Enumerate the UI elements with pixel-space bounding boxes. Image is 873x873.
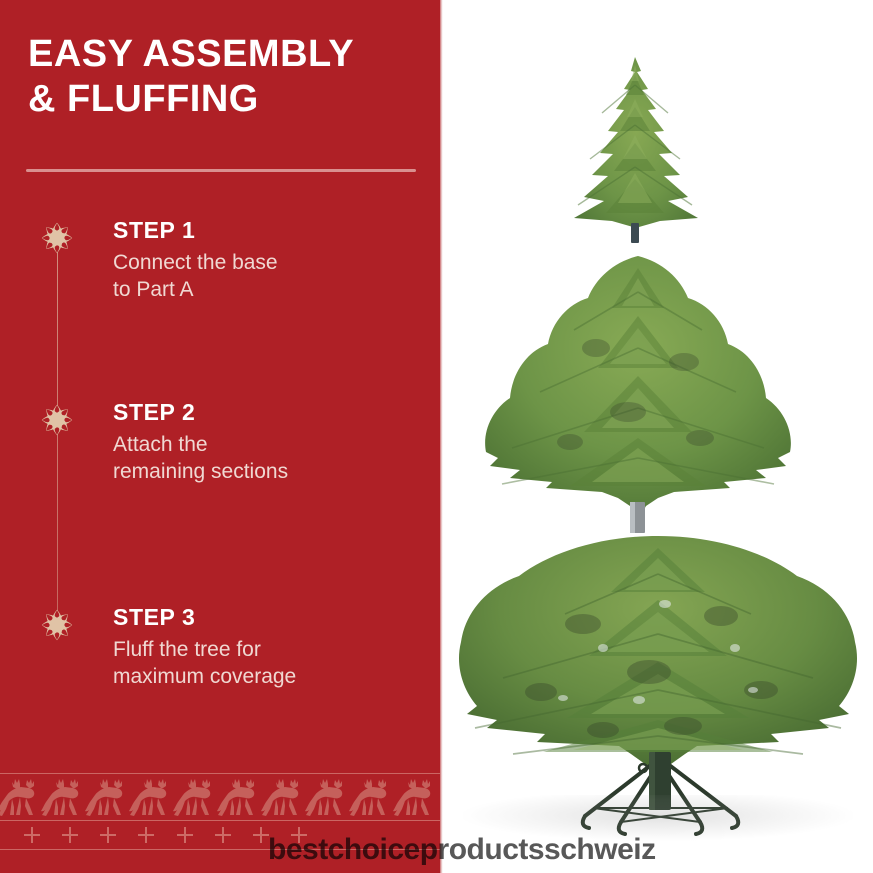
product-photo: [443, 0, 873, 873]
reindeer-icon: [392, 777, 438, 819]
tree-section-middle: [478, 252, 798, 537]
step-title: STEP 1: [113, 216, 413, 245]
plus-mark-icon: [24, 827, 40, 843]
tree-section-bottom: [453, 530, 863, 780]
step-desc-line: Fluff the tree for: [113, 636, 413, 664]
reindeer-icon: [128, 777, 174, 819]
border-rule: [0, 820, 440, 821]
reindeer-icon: [40, 777, 86, 819]
snowflake-icon: [38, 606, 76, 644]
reindeer-row: [0, 777, 440, 819]
plus-mark-icon: [253, 827, 269, 843]
step-desc-line: to Part A: [113, 276, 413, 304]
step-connector-line: [57, 250, 58, 630]
step-desc-line: Connect the base: [113, 249, 413, 277]
marketing-image: EASY ASSEMBLY & FLUFFING: [0, 0, 873, 873]
step-text: STEP 3 Fluff the tree for maximum covera…: [113, 603, 413, 691]
reindeer-icon: [84, 777, 130, 819]
plus-mark-icon: [138, 827, 154, 843]
info-panel: EASY ASSEMBLY & FLUFFING: [0, 0, 440, 873]
plus-mark-icon: [215, 827, 231, 843]
step-text: STEP 1 Connect the base to Part A: [113, 216, 413, 304]
reindeer-icon: [216, 777, 262, 819]
step-desc-line: Attach the: [113, 431, 413, 459]
step-description: Fluff the tree for maximum coverage: [113, 636, 413, 691]
watermark: bestchoiceproductsschweiz: [268, 833, 656, 867]
reindeer-icon: [260, 777, 306, 819]
tree-section-top: [538, 55, 733, 245]
step-description: Connect the base to Part A: [113, 249, 413, 304]
snowflake-icon: [38, 219, 76, 257]
plus-mark-icon: [100, 827, 116, 843]
step-title: STEP 3: [113, 603, 413, 632]
reindeer-icon: [348, 777, 394, 819]
plus-mark-icon: [177, 827, 193, 843]
reindeer-icon: [304, 777, 350, 819]
steps-list: STEP 1 Connect the base to Part A: [0, 0, 440, 873]
reindeer-icon: [0, 777, 42, 819]
step-text: STEP 2 Attach the remaining sections: [113, 398, 413, 486]
step-desc-line: maximum coverage: [113, 663, 413, 691]
step-title: STEP 2: [113, 398, 413, 427]
step-description: Attach the remaining sections: [113, 431, 413, 486]
plus-mark-icon: [62, 827, 78, 843]
snowflake-icon: [38, 401, 76, 439]
step-desc-line: remaining sections: [113, 458, 413, 486]
reindeer-icon: [172, 777, 218, 819]
border-rule: [0, 773, 440, 774]
